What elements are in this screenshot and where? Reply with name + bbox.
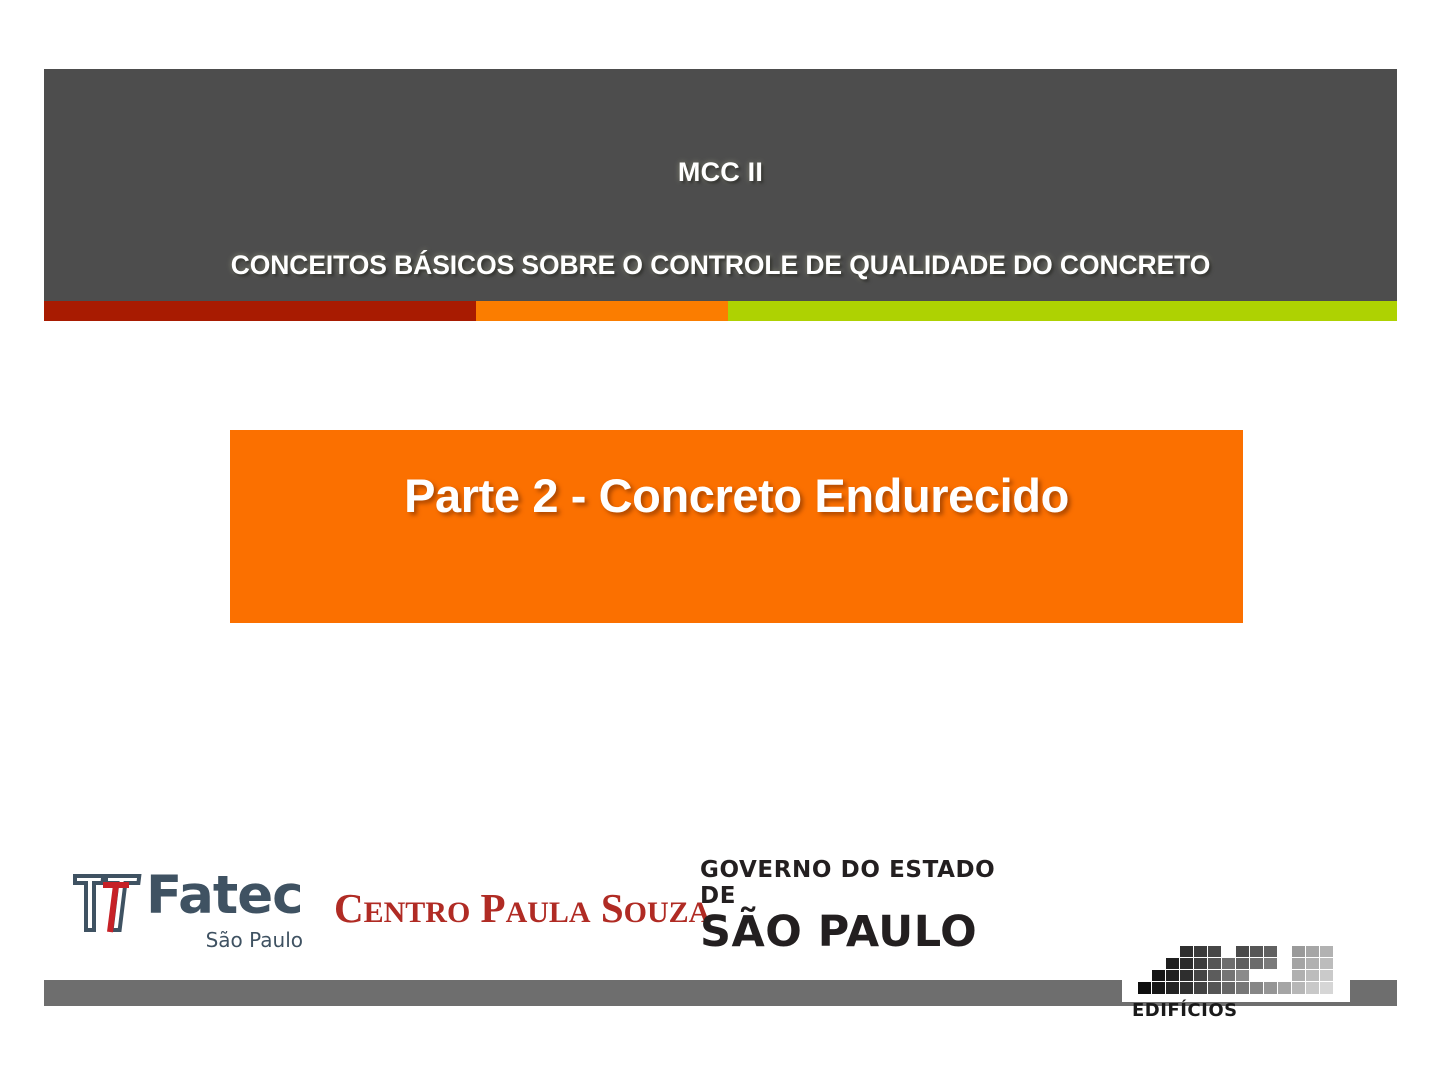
- part-title-box: Parte 2 - Concreto Endurecido: [230, 430, 1243, 623]
- governo-logo-line1: GOVERNO DO ESTADO DE: [700, 857, 1020, 909]
- cps-part-2: P: [470, 885, 505, 931]
- governo-sao-paulo-logo: GOVERNO DO ESTADO DE SÃO PAULO: [700, 857, 1020, 933]
- part-title-text: Parte 2 - Concreto Endurecido: [230, 468, 1243, 523]
- fatec-logo: Fatec São Paulo: [70, 862, 305, 960]
- cps-part-0: C: [334, 885, 364, 931]
- subject-title: CONCEITOS BÁSICOS SOBRE O CONTROLE DE QU…: [44, 250, 1397, 281]
- cps-part-4: S: [591, 885, 624, 931]
- course-code-title: MCC II: [44, 157, 1397, 188]
- fatec-mark-icon: [72, 870, 146, 936]
- accent-rule-orange-segment: [476, 301, 728, 321]
- slide-canvas: MCC II CONCEITOS BÁSICOS SOBRE O CONTROL…: [0, 0, 1440, 1080]
- fatec-wordmark: Fatec: [146, 869, 303, 922]
- cps-part-1: ENTRO: [364, 896, 471, 929]
- cps-part-5: OUZA: [624, 896, 711, 929]
- header-content: MCC II CONCEITOS BÁSICOS SOBRE O CONTROL…: [44, 69, 1397, 301]
- au-edificios-logo: EDIFÍCIOS: [1122, 938, 1350, 1020]
- au-edificios-wordmark: EDIFÍCIOS: [1132, 1000, 1238, 1021]
- header-band: MCC II CONCEITOS BÁSICOS SOBRE O CONTROL…: [44, 69, 1397, 301]
- governo-logo-line2: SÃO PAULO: [700, 911, 1020, 955]
- fatec-subtitle: São Paulo: [206, 928, 303, 952]
- accent-rule-red-segment: [44, 301, 476, 321]
- au-pixel-mark-icon: [1122, 938, 1350, 1002]
- centro-paula-souza-logo: CENTRO PAULA SOUZA: [334, 884, 666, 930]
- accent-rule-green-segment: [728, 301, 1397, 321]
- accent-rule: [44, 301, 1397, 321]
- cps-part-3: AULA: [506, 896, 591, 929]
